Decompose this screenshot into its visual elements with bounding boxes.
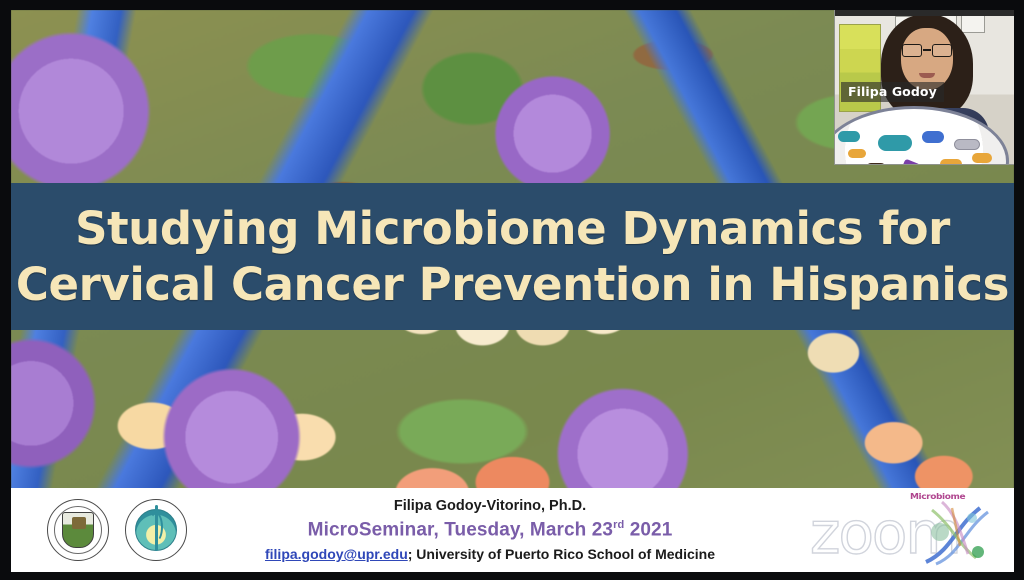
microbiome-logo: Microbiome (906, 492, 1002, 568)
slide-footer-text: Filipa Godoy-Vitorino, Ph.D. MicroSemina… (206, 498, 804, 562)
video-tile-top-strip (835, 10, 1014, 16)
presenter-name: Filipa Godoy-Vitorino, Ph.D. (394, 498, 586, 514)
zoom-meeting-window: Studying Microbiome Dynamics for Cervica… (0, 0, 1024, 580)
slide-title-line-1: Studying Microbiome Dynamics for (75, 201, 950, 257)
participant-mouth (919, 73, 935, 78)
window-frame-top (0, 0, 1024, 10)
wall-frame-icon (961, 15, 985, 33)
participant-video-tile[interactable]: Filipa Godoy (834, 10, 1014, 165)
seminar-prefix: MicroSeminar, Tuesday, March 23 (308, 519, 613, 540)
microbiome-logo-text: Microbiome (910, 493, 965, 502)
slide-title-band: Studying Microbiome Dynamics for Cervica… (11, 183, 1014, 330)
slide-footer-right: zoom Microbiome (804, 488, 1014, 572)
dna-helix-icon (906, 492, 1002, 568)
seminar-title-line: MicroSeminar, Tuesday, March 23rd 2021 (308, 519, 673, 541)
glasses-icon (901, 44, 953, 57)
slide-footer-logos (11, 488, 206, 572)
slide-footer: Filipa Godoy-Vitorino, Ph.D. MicroSemina… (11, 488, 1014, 572)
affiliation-text: ; University of Puerto Rico School of Me… (408, 546, 715, 562)
participant-face (901, 28, 953, 90)
upr-seal-logo (47, 499, 109, 561)
window-frame-bottom (0, 572, 1024, 580)
seminar-year: 2021 (624, 519, 672, 540)
presenter-email-link[interactable]: filipa.godoy@upr.edu (265, 546, 408, 562)
seminar-ordinal: rd (613, 519, 624, 531)
window-frame-left (0, 0, 11, 580)
participant-name-badge: Filipa Godoy (841, 82, 944, 102)
slide-title-line-2: Cervical Cancer Prevention in Hispanics (16, 257, 1009, 313)
window-frame-right (1014, 0, 1024, 580)
affiliation-line: filipa.godoy@upr.edu; University of Puer… (265, 546, 715, 562)
escuela-de-medicina-logo (125, 499, 187, 561)
